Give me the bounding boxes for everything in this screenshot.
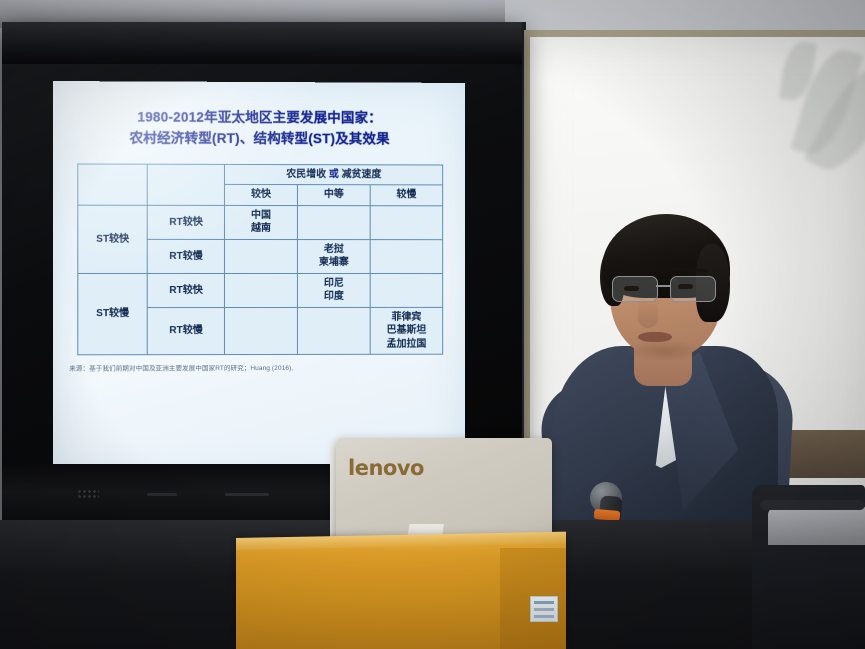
table-row: ST较快 RT较快 中国 越南 xyxy=(78,205,443,240)
cell-st-fast-rt-slow-col-medium: 老挝 柬埔寨 xyxy=(297,239,370,273)
cell-st-slow-rt-slow-col-medium xyxy=(297,307,370,355)
display-bezel-top xyxy=(2,22,522,64)
row-header-rt-slow: RT较慢 xyxy=(148,239,225,273)
presentation-photo-scene: 1980-2012年亚太地区主要发展中国家： 农村经济转型(RT)、结构转型(S… xyxy=(0,0,865,649)
header-outcome-suffix: 减贫速度 xyxy=(342,169,382,180)
table-row: ST较慢 RT较快 印尼 印度 xyxy=(78,273,443,307)
row-header-rt-slow-2: RT较慢 xyxy=(148,307,225,355)
cell-st-slow-rt-fast-col-slow xyxy=(370,273,443,307)
lenovo-logo: lenovo xyxy=(348,456,424,480)
slide-title-line-1: 1980-2012年亚太地区主要发展中国家： xyxy=(63,107,455,129)
column-header-slow: 较慢 xyxy=(370,185,443,206)
label-line xyxy=(534,608,554,611)
header-outcome-prefix: 农民增收 xyxy=(286,169,326,180)
row-header-st-slow: ST较慢 xyxy=(78,273,148,355)
country-name: 菲律宾 xyxy=(372,311,442,325)
header-corner-cell xyxy=(78,164,148,205)
header-corner-cell-2 xyxy=(148,164,225,205)
nose xyxy=(638,298,658,328)
eye-left xyxy=(624,286,639,291)
slide-table-wrapper: 农民增收 或 减贫速度 较快 中等 较慢 ST较快 xyxy=(77,163,443,355)
cell-st-fast-rt-slow-col-slow xyxy=(370,239,443,273)
country-name: 印尼 xyxy=(299,277,369,290)
country-name: 孟加拉国 xyxy=(372,338,442,352)
row-header-st-fast: ST较快 xyxy=(78,205,148,273)
header-outcome-span: 农民增收 或 减贫速度 xyxy=(224,164,442,185)
cell-st-slow-rt-fast-col-medium: 印尼 印度 xyxy=(297,273,370,307)
chair-backrest-opening xyxy=(768,507,865,545)
glasses-bridge xyxy=(656,285,670,287)
column-header-medium: 中等 xyxy=(297,185,370,206)
transformation-matrix-table: 农民增收 或 减贫速度 较快 中等 较慢 ST较快 xyxy=(77,163,443,355)
label-line xyxy=(534,601,554,604)
chin-shadow xyxy=(624,340,704,362)
row-header-rt-fast-2: RT较快 xyxy=(148,273,225,307)
cell-st-fast-rt-fast-col-medium xyxy=(297,205,370,239)
podium-asset-label xyxy=(530,596,558,622)
country-name: 巴基斯坦 xyxy=(372,324,442,338)
cell-st-fast-rt-fast-col-slow xyxy=(370,206,443,240)
slide-source-note: 来源：基于我们前期对中国及亚洲主要发展中国家RT的研究；Huang (2016)… xyxy=(69,365,451,374)
glasses-lens-right xyxy=(670,276,716,302)
country-name: 越南 xyxy=(226,222,296,236)
cell-st-slow-rt-fast-col-fast xyxy=(224,273,297,307)
header-outcome-conj: 或 xyxy=(329,169,339,180)
country-name: 印度 xyxy=(299,290,369,304)
row-header-rt-fast: RT较快 xyxy=(148,205,225,239)
table-header-row-1: 农民增收 或 减贫速度 xyxy=(78,164,443,185)
cell-st-slow-rt-slow-col-fast xyxy=(224,307,297,355)
country-name: 柬埔寨 xyxy=(299,256,369,270)
presentation-slide: 1980-2012年亚太地区主要发展中国家： 农村经济转型(RT)、结构转型(S… xyxy=(53,81,465,483)
cell-st-fast-rt-slow-col-fast xyxy=(224,239,297,273)
country-name: 老挝 xyxy=(299,243,369,257)
chair-top-rail xyxy=(760,500,865,510)
power-bar-icon[interactable] xyxy=(147,493,177,496)
label-line xyxy=(534,615,554,618)
slide-title: 1980-2012年亚太地区主要发展中国家： 农村经济转型(RT)、结构转型(S… xyxy=(63,107,455,150)
speaker-grille-icon xyxy=(77,489,99,499)
slide-title-line-2: 农村经济转型(RT)、结构转型(ST)及其效果 xyxy=(63,128,455,150)
column-header-fast: 较快 xyxy=(224,185,297,206)
menu-bar-icon[interactable] xyxy=(225,493,269,496)
cell-st-fast-rt-fast-col-fast: 中国 越南 xyxy=(224,205,297,239)
cell-st-slow-rt-slow-col-slow: 菲律宾 巴基斯坦 孟加拉国 xyxy=(370,307,443,354)
country-name: 中国 xyxy=(226,209,296,223)
eye-right xyxy=(678,284,693,289)
